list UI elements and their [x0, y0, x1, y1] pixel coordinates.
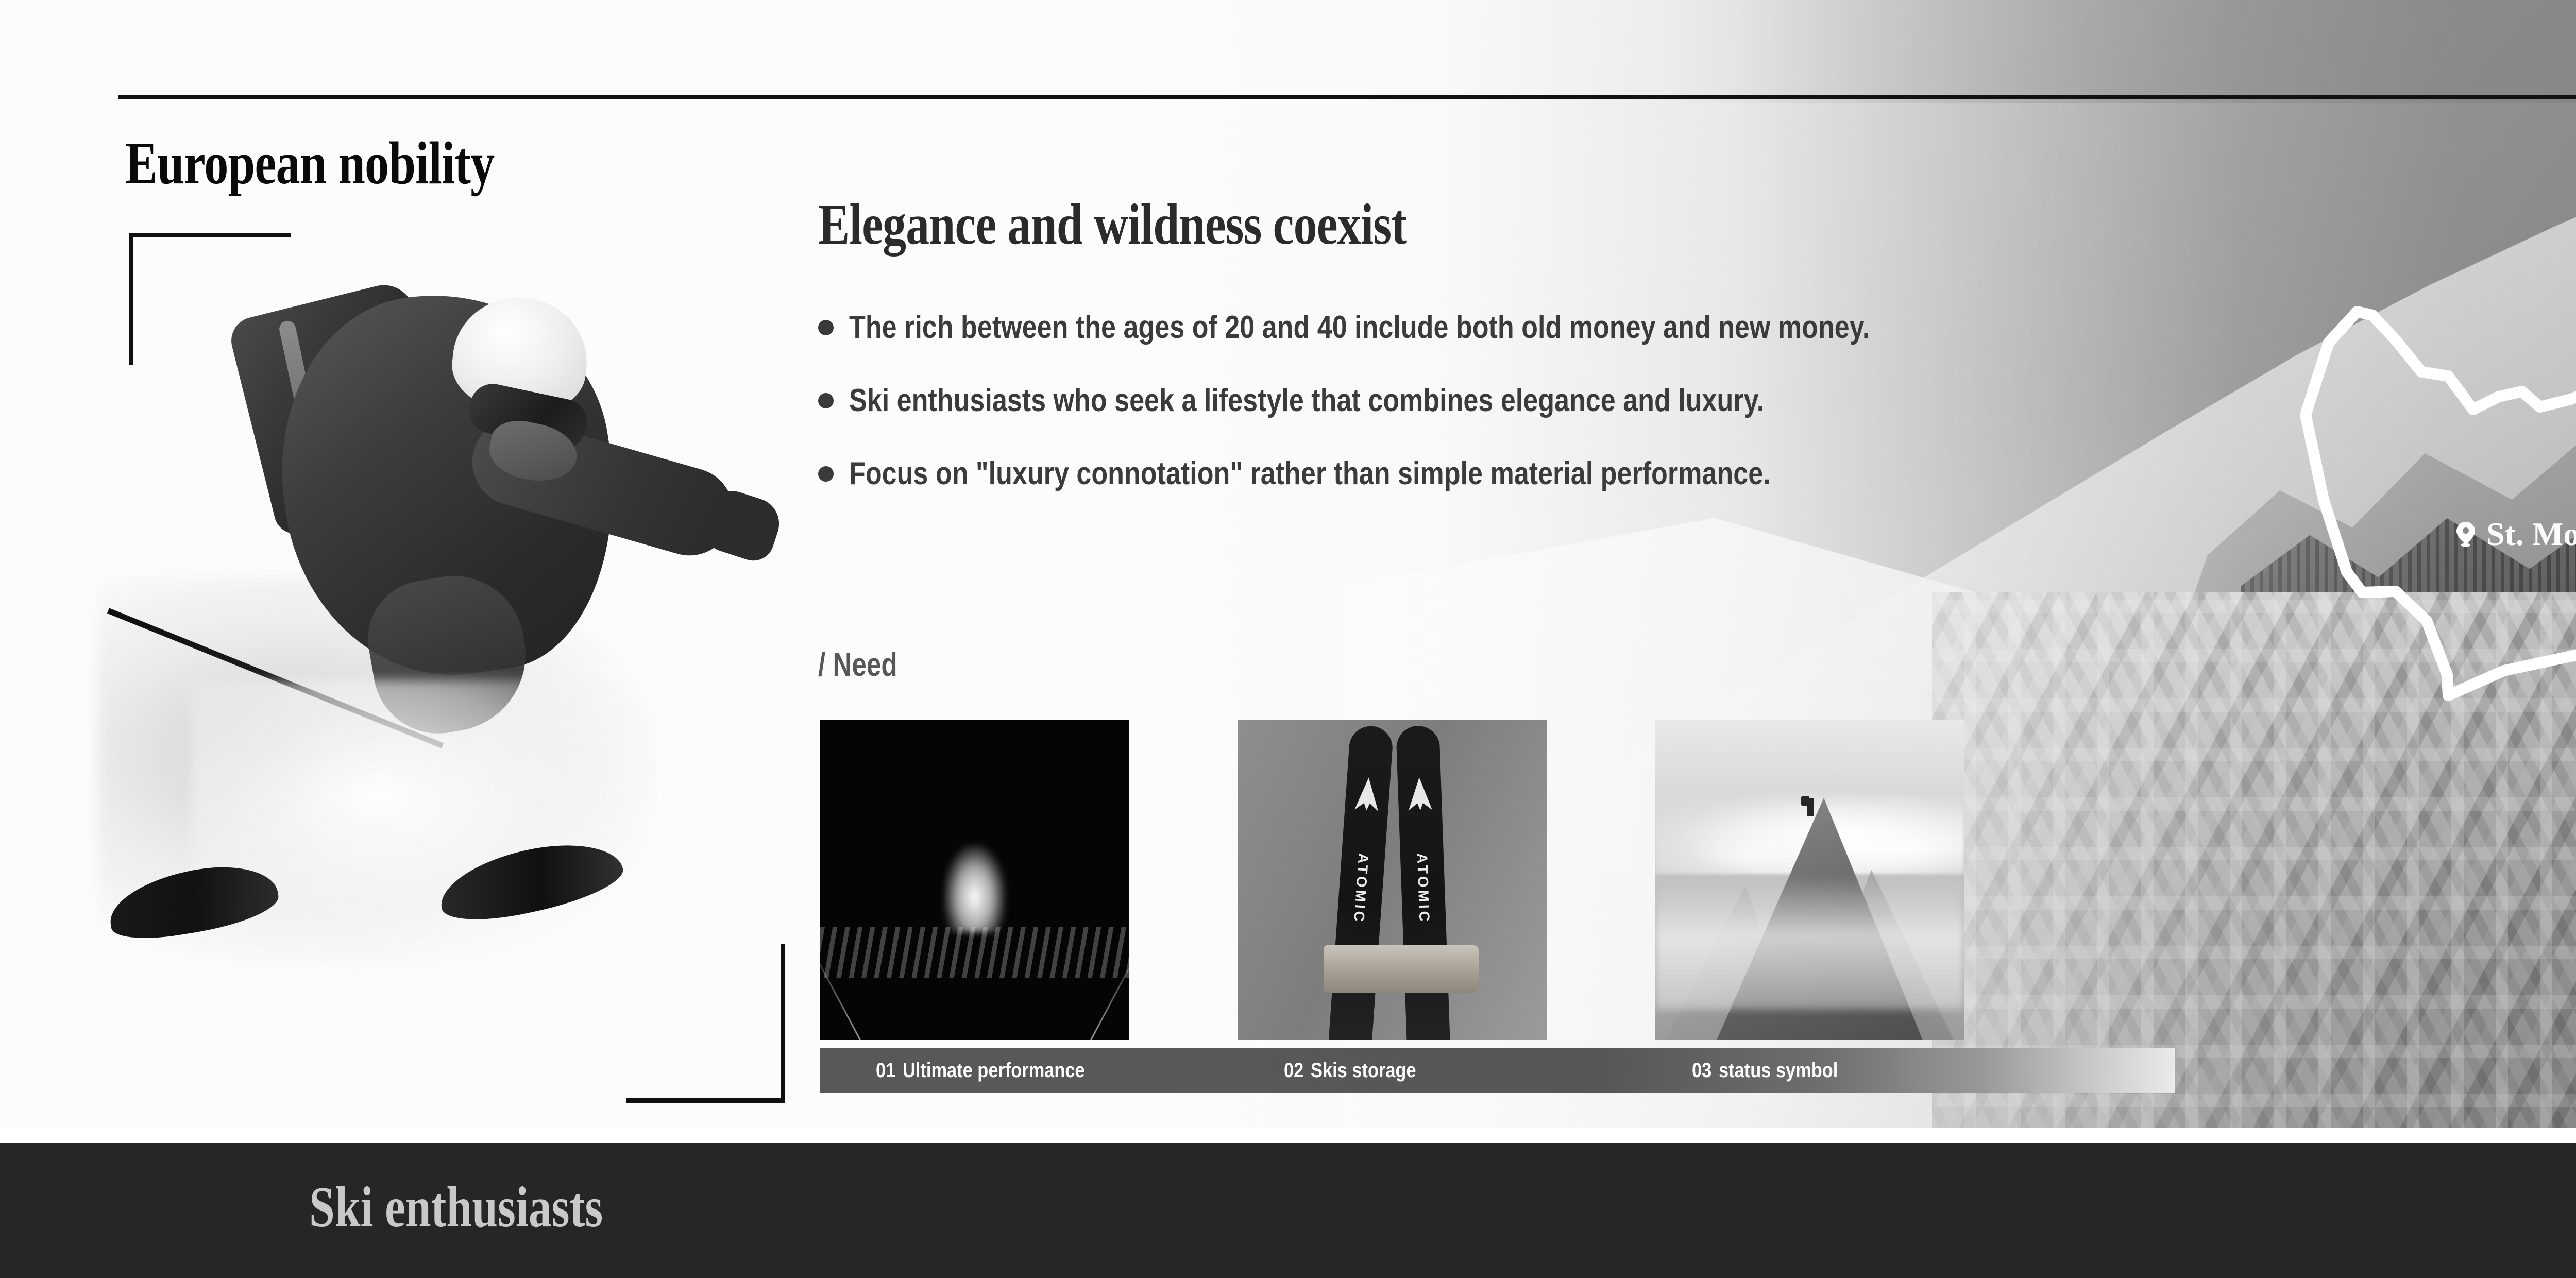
thumbnail-ultimate-performance[interactable] — [820, 720, 1129, 1040]
caption-item: 01Ultimate performance — [876, 1059, 1085, 1082]
bullet-text: Ski enthusiasts who seek a lifestyle tha… — [849, 385, 1764, 417]
thumbnail-status-symbol[interactable] — [1655, 720, 1964, 1040]
wooden-ski-rack — [1324, 945, 1479, 993]
ski-brand-text: ATOMIC — [1414, 853, 1433, 925]
caption-item: 02Skis storage — [1284, 1059, 1416, 1082]
list-item: Focus on "luxury connotation" rather tha… — [818, 437, 2364, 510]
tunnel-chevrons — [820, 927, 1129, 978]
light-core-glow — [944, 845, 1006, 932]
bullet-text: Focus on "luxury connotation" rather tha… — [849, 458, 1771, 490]
bullet-dot-icon — [818, 320, 834, 335]
bullet-dot-icon — [818, 466, 834, 482]
caption-label: status symbol — [1719, 1059, 1838, 1082]
footer-photo-fade — [0, 1143, 268, 1278]
caption-number: 01 — [876, 1059, 895, 1082]
top-gradient-tint — [0, 0, 2576, 103]
slide-canvas: European nobility Buyer Elegance and wil… — [0, 0, 2576, 1278]
skier-photo — [129, 288, 799, 1071]
caption-number: 03 — [1692, 1059, 1711, 1082]
section-headline: Elegance and wildness coexist — [818, 196, 1406, 253]
footer-title: Ski enthusiasts — [309, 1179, 603, 1236]
caption-label: Skis storage — [1311, 1059, 1416, 1082]
header-rule — [118, 95, 2576, 99]
atomic-logo-icon — [1408, 777, 1432, 811]
location-name: St. Moritz — [2486, 515, 2576, 553]
footer-white-separator — [0, 1128, 2576, 1144]
page-kicker: European nobility — [125, 133, 494, 194]
powder-spray — [191, 680, 654, 968]
need-caption-bar: 01Ultimate performance 02Skis storage 03… — [820, 1048, 2175, 1093]
fog-layer — [1655, 875, 1964, 1009]
bullet-dot-icon — [818, 393, 834, 408]
bullet-text: The rich between the ages of 20 and 40 i… — [849, 312, 1870, 344]
bullet-list: The rich between the ages of 20 and 40 i… — [818, 291, 2364, 510]
need-section-label: / Need — [818, 648, 897, 681]
thumbnail-skis-storage[interactable]: ATOMIC ATOMIC — [1238, 720, 1547, 1040]
ski-brand-text: ATOMIC — [1350, 853, 1372, 925]
climber-silhouette — [1807, 798, 1814, 816]
list-item: Ski enthusiasts who seek a lifestyle tha… — [818, 364, 2364, 437]
caption-number: 02 — [1284, 1059, 1303, 1082]
map-location-label: St. Moritz — [2456, 515, 2576, 553]
caption-label: Ultimate performance — [903, 1059, 1085, 1082]
atomic-logo-icon — [1354, 777, 1380, 811]
caption-item: 03status symbol — [1692, 1059, 1838, 1082]
list-item: The rich between the ages of 20 and 40 i… — [818, 291, 2364, 364]
map-pin-icon — [2456, 522, 2475, 547]
